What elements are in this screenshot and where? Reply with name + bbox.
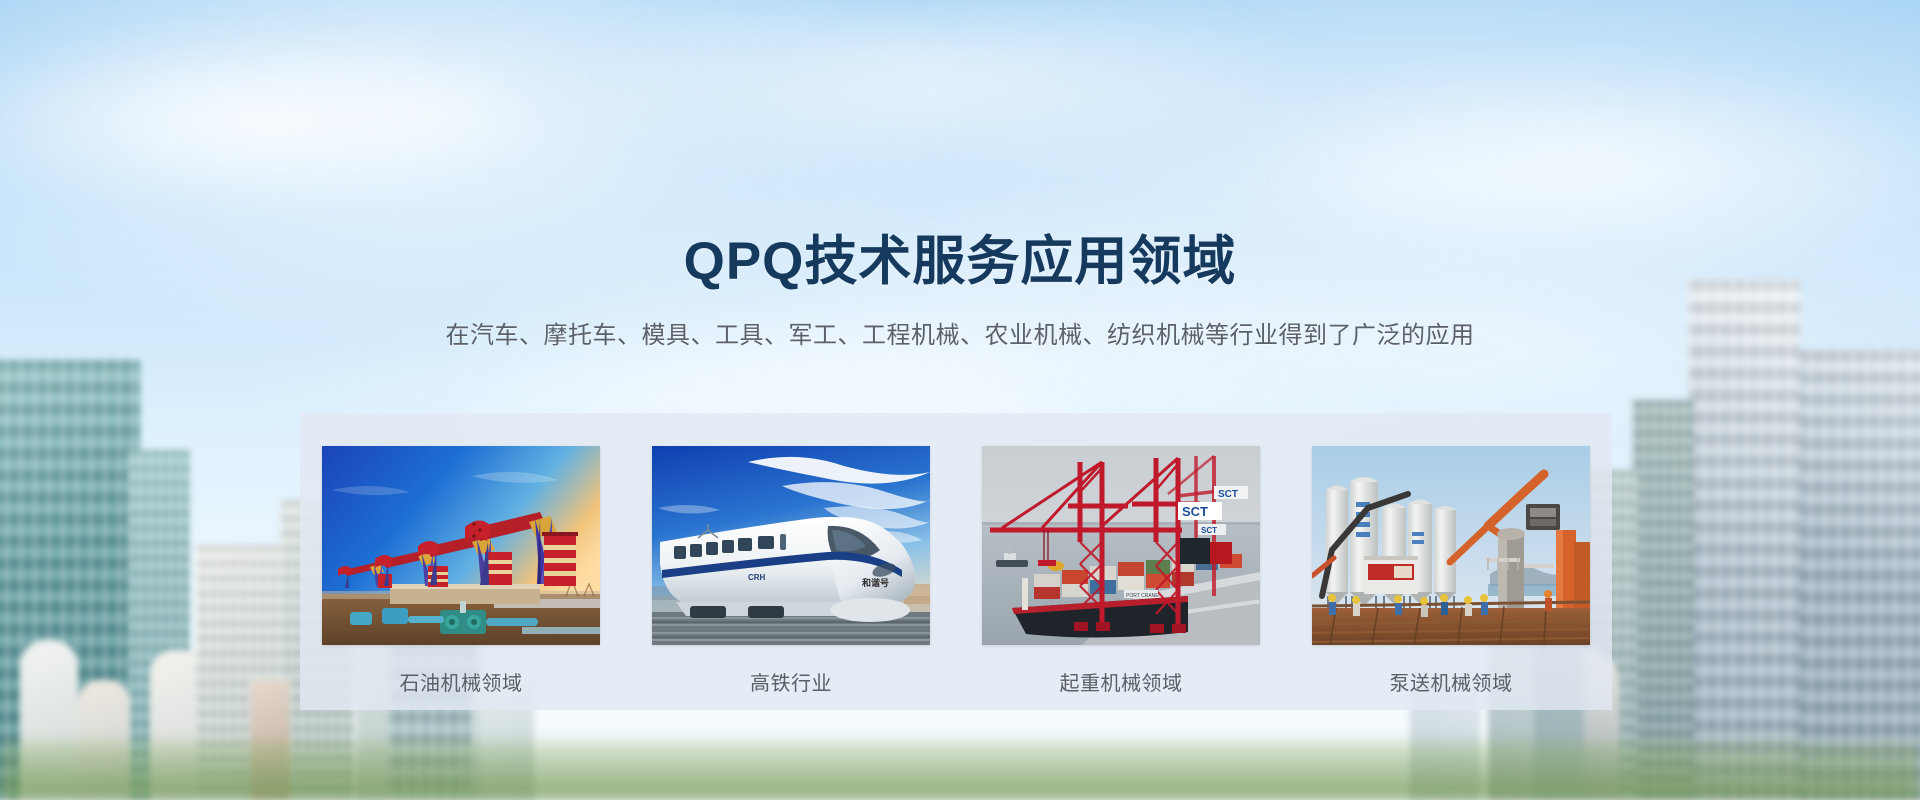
card-label: 起重机械领域 xyxy=(982,667,1260,696)
high-speed-train-photo[interactable]: CRH 和谐号 xyxy=(652,446,930,645)
skyline-building xyxy=(1688,280,1800,800)
card-label: 高铁行业 xyxy=(652,667,930,696)
svg-text:和谐号: 和谐号 xyxy=(861,577,889,588)
list-item[interactable]: 石油机械领域 xyxy=(322,446,600,696)
concrete-pump-illustration xyxy=(1312,446,1590,645)
port-cranes-illustration: SCT SCT SCT PORT CRANE xyxy=(982,446,1260,645)
oil-pumpjacks-sunset-photo[interactable] xyxy=(322,446,600,645)
page-title: QPQ技术服务应用领域 xyxy=(0,232,1920,293)
high-speed-train-illustration: CRH 和谐号 xyxy=(652,446,930,645)
application-fields-panel: 石油机械领域 xyxy=(300,413,1612,710)
application-cards-list: 石油机械领域 xyxy=(300,413,1612,710)
svg-text:SCT: SCT xyxy=(1201,526,1217,535)
hero-banner: QPQ技术服务应用领域 在汽车、摩托车、模具、工具、军工、工程机械、农业机械、纺… xyxy=(0,0,1920,800)
skyline-building xyxy=(1794,350,1920,800)
svg-text:CRH: CRH xyxy=(748,573,766,582)
svg-text:SCT: SCT xyxy=(1182,504,1208,519)
list-item[interactable]: CRH 和谐号 高铁行业 xyxy=(652,446,930,696)
list-item[interactable]: SCT SCT SCT PORT CRANE 起重机械领域 xyxy=(982,446,1260,696)
svg-text:PORT CRANE: PORT CRANE xyxy=(1126,593,1159,599)
oil-pumpjacks-illustration xyxy=(322,446,600,645)
concrete-pump-machinery-photo[interactable] xyxy=(1312,446,1590,645)
card-label: 泵送机械领域 xyxy=(1312,667,1590,696)
tree-line xyxy=(0,740,1920,800)
card-label: 石油机械领域 xyxy=(322,667,600,696)
page-subtitle: 在汽车、摩托车、模具、工具、军工、工程机械、农业机械、纺织机械等行业得到了广泛的… xyxy=(0,315,1920,350)
hero-heading-group: QPQ技术服务应用领域 在汽车、摩托车、模具、工具、军工、工程机械、农业机械、纺… xyxy=(0,232,1920,350)
svg-text:SCT: SCT xyxy=(1218,489,1238,500)
list-item[interactable]: 泵送机械领域 xyxy=(1312,446,1590,696)
port-gantry-cranes-photo[interactable]: SCT SCT SCT PORT CRANE xyxy=(982,446,1260,645)
